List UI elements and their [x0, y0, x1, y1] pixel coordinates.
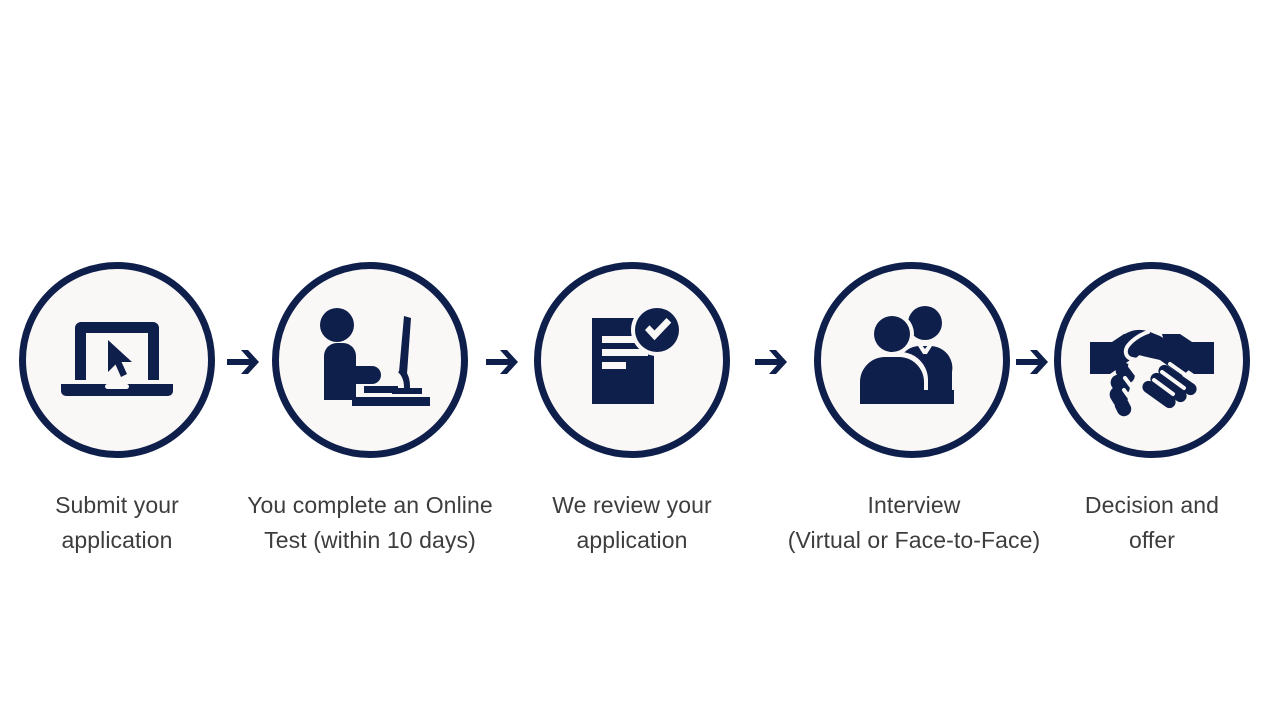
handshake-icon — [1086, 294, 1218, 426]
arrow-right-icon-1 — [225, 344, 261, 380]
process-step-labels: Submit your application You complete an … — [0, 488, 1280, 578]
laptop-cursor-icon — [51, 294, 183, 426]
recruitment-process-flow: Submit your application You complete an … — [0, 0, 1280, 720]
step-4-label: Interview (Virtual or Face-to-Face) — [750, 488, 1078, 558]
step-3-label: We review your application — [512, 488, 752, 558]
step-1-label: Submit your application — [0, 488, 234, 558]
step-3-label-line-1: We review your — [512, 488, 752, 523]
process-step-2[interactable] — [272, 262, 468, 458]
process-step-5[interactable] — [1054, 262, 1250, 458]
step-2-label-line-2: Test (within 10 days) — [224, 523, 516, 558]
process-step-1[interactable] — [19, 262, 215, 458]
step-2-label: You complete an Online Test (within 10 d… — [224, 488, 516, 558]
process-step-4[interactable] — [814, 262, 1010, 458]
step-1-label-line-1: Submit your — [0, 488, 234, 523]
person-at-computer-icon — [304, 294, 436, 426]
arrow-right-icon-2 — [484, 344, 520, 380]
step-4-label-line-1: Interview — [750, 488, 1078, 523]
step-2-label-line-1: You complete an Online — [224, 488, 516, 523]
step-3-label-line-2: application — [512, 523, 752, 558]
step-4-label-line-2: (Virtual or Face-to-Face) — [750, 523, 1078, 558]
step-1-label-line-2: application — [0, 523, 234, 558]
arrow-right-icon-3 — [753, 344, 789, 380]
process-step-3[interactable] — [534, 262, 730, 458]
process-step-circles — [0, 262, 1280, 462]
arrow-right-icon-4 — [1014, 344, 1050, 380]
two-people-interview-icon — [846, 294, 978, 426]
step-5-label-line-1: Decision and — [1054, 488, 1250, 523]
step-5-label: Decision and offer — [1054, 488, 1250, 558]
document-check-icon — [566, 294, 698, 426]
step-5-label-line-2: offer — [1054, 523, 1250, 558]
